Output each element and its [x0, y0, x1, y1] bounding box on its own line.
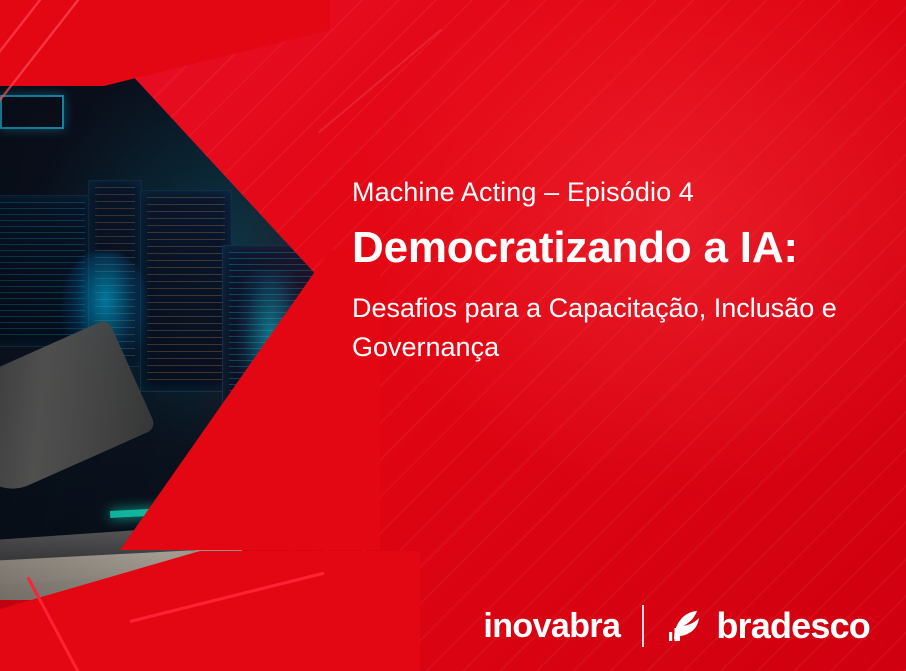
page-title: Democratizando a IA:: [352, 220, 872, 275]
logo-lockup: inovabra bradesco: [483, 605, 870, 647]
vertical-divider-icon: [642, 605, 644, 647]
bradesco-logo: bradesco: [666, 606, 870, 646]
subtitle: Desafios para a Capacitação, Inclusão e …: [352, 289, 872, 366]
episode-eyebrow: Machine Acting – Episódio 4: [352, 176, 872, 210]
promo-banner: Machine Acting – Episódio 4 Democratizan…: [0, 0, 906, 671]
bradesco-wordmark: bradesco: [716, 608, 870, 644]
text-block: Machine Acting – Episódio 4 Democratizan…: [352, 176, 872, 366]
inovabra-logo: inovabra: [483, 609, 620, 643]
bradesco-tree-icon: [666, 606, 706, 646]
